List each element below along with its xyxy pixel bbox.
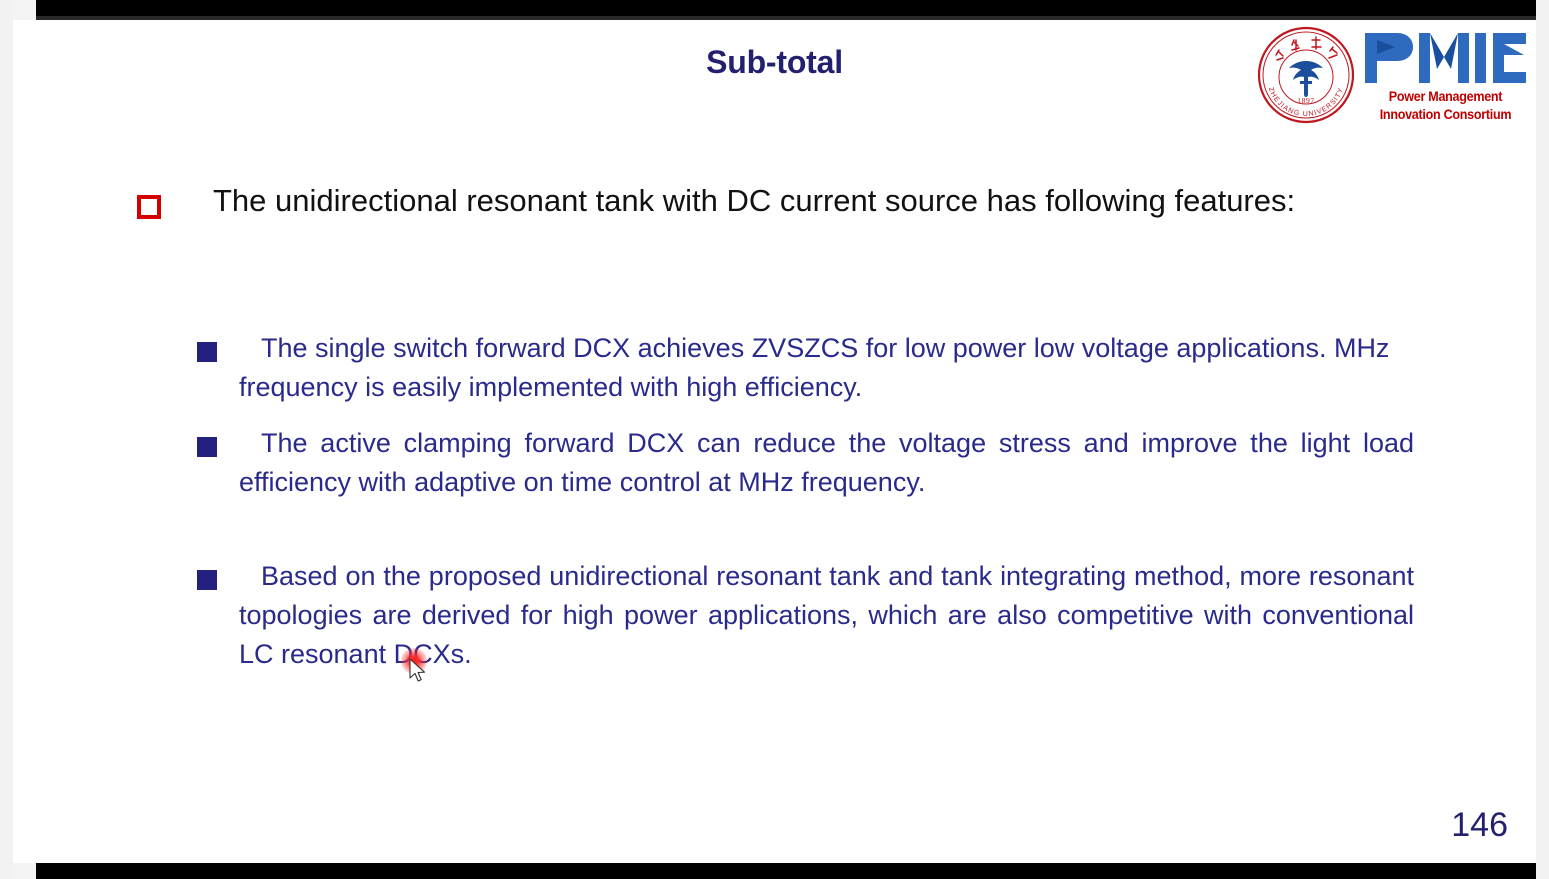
viewer-bottom-letterbox-bar — [36, 863, 1536, 879]
bullet-level2-3-text: Based on the proposed unidirectional res… — [239, 557, 1414, 674]
bullet-level2-3: Based on the proposed unidirectional res… — [197, 557, 1414, 674]
bullet-level2-2-text: The active clamping forward DCX can redu… — [239, 424, 1414, 502]
viewer-right-gutter — [1536, 0, 1549, 879]
navy-square-bullet-icon — [197, 437, 217, 457]
slide-viewer: Sub-total — [0, 0, 1549, 879]
navy-square-bullet-icon — [197, 570, 217, 590]
bullet-level1-text: The unidirectional resonant tank with DC… — [185, 178, 1422, 224]
viewer-top-letterbox-bar — [36, 0, 1536, 16]
navy-square-bullet-icon — [197, 342, 217, 362]
viewer-left-gutter — [0, 0, 13, 879]
bullet-level2-1-text: The single switch forward DCX achieves Z… — [239, 329, 1414, 407]
page-number: 146 — [1451, 806, 1508, 845]
bullet-level2-1: The single switch forward DCX achieves Z… — [197, 329, 1414, 407]
bullet-level1: The unidirectional resonant tank with DC… — [137, 178, 1422, 224]
red-square-bullet-icon — [137, 195, 161, 219]
bullet-level2-2: The active clamping forward DCX can redu… — [197, 424, 1414, 502]
slide-body: The unidirectional resonant tank with DC… — [13, 20, 1536, 863]
slide-canvas: Sub-total — [13, 20, 1536, 863]
